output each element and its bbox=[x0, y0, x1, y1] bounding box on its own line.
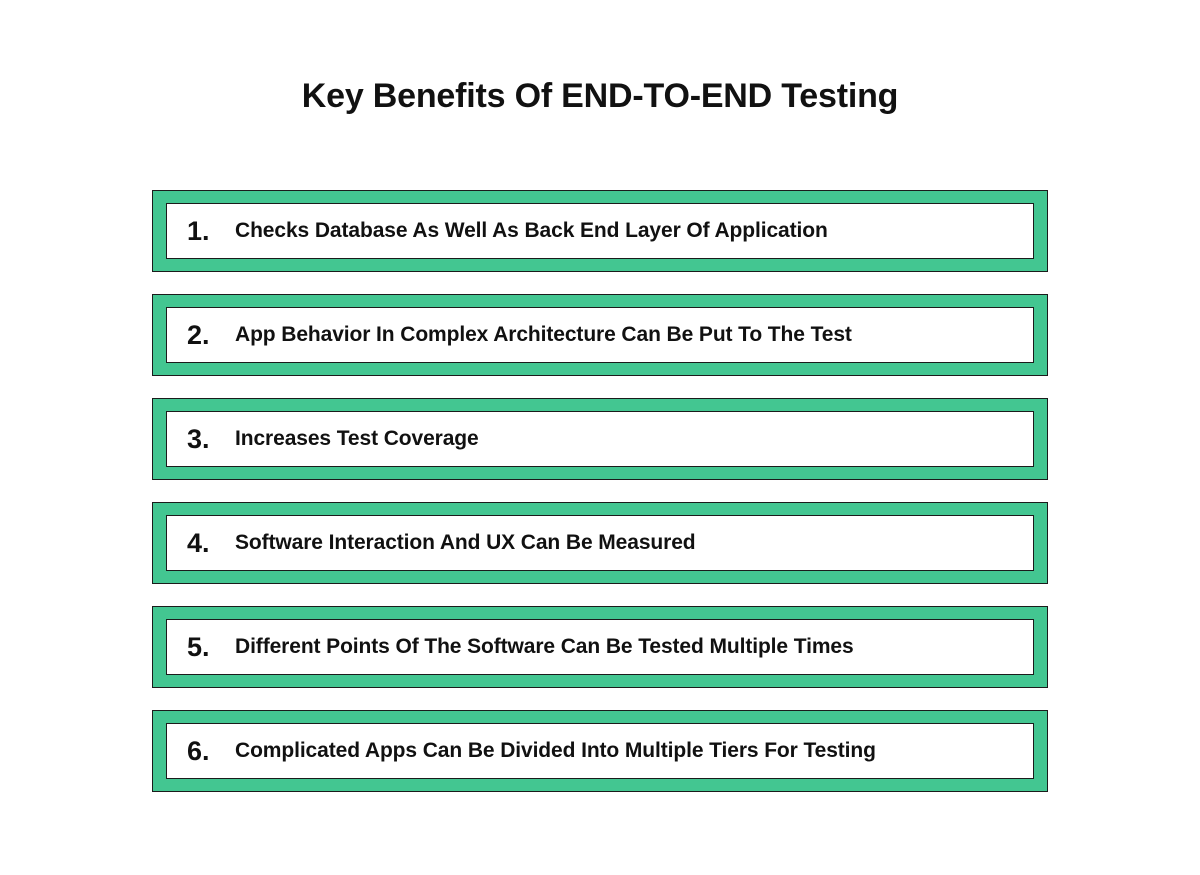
benefit-number-1: 1. bbox=[187, 218, 235, 245]
benefit-number-6: 6. bbox=[187, 738, 235, 765]
benefit-panel-4: 4. Software Interaction And UX Can Be Me… bbox=[166, 515, 1034, 571]
benefit-panel-5: 5. Different Points Of The Software Can … bbox=[166, 619, 1034, 675]
benefit-number-5: 5. bbox=[187, 634, 235, 661]
benefit-panel-2: 2. App Behavior In Complex Architecture … bbox=[166, 307, 1034, 363]
benefit-item-2: 2. App Behavior In Complex Architecture … bbox=[152, 294, 1048, 376]
benefit-number-3: 3. bbox=[187, 426, 235, 453]
benefit-label-1: Checks Database As Well As Back End Laye… bbox=[235, 219, 828, 243]
benefit-label-3: Increases Test Coverage bbox=[235, 427, 479, 451]
benefit-item-4: 4. Software Interaction And UX Can Be Me… bbox=[152, 502, 1048, 584]
benefit-number-4: 4. bbox=[187, 530, 235, 557]
benefit-panel-3: 3. Increases Test Coverage bbox=[166, 411, 1034, 467]
benefit-item-3: 3. Increases Test Coverage bbox=[152, 398, 1048, 480]
benefit-item-1: 1. Checks Database As Well As Back End L… bbox=[152, 190, 1048, 272]
benefit-panel-6: 6. Complicated Apps Can Be Divided Into … bbox=[166, 723, 1034, 779]
benefit-label-2: App Behavior In Complex Architecture Can… bbox=[235, 323, 852, 347]
benefits-list: 1. Checks Database As Well As Back End L… bbox=[152, 190, 1048, 792]
infographic-root: Key Benefits Of END-TO-END Testing 1. Ch… bbox=[0, 0, 1200, 875]
benefit-label-4: Software Interaction And UX Can Be Measu… bbox=[235, 531, 696, 555]
benefit-item-5: 5. Different Points Of The Software Can … bbox=[152, 606, 1048, 688]
benefit-number-2: 2. bbox=[187, 322, 235, 349]
benefit-panel-1: 1. Checks Database As Well As Back End L… bbox=[166, 203, 1034, 259]
benefit-label-6: Complicated Apps Can Be Divided Into Mul… bbox=[235, 739, 876, 763]
benefit-item-6: 6. Complicated Apps Can Be Divided Into … bbox=[152, 710, 1048, 792]
page-title: Key Benefits Of END-TO-END Testing bbox=[0, 78, 1200, 115]
page-title-container: Key Benefits Of END-TO-END Testing bbox=[0, 78, 1200, 115]
benefit-label-5: Different Points Of The Software Can Be … bbox=[235, 635, 854, 659]
